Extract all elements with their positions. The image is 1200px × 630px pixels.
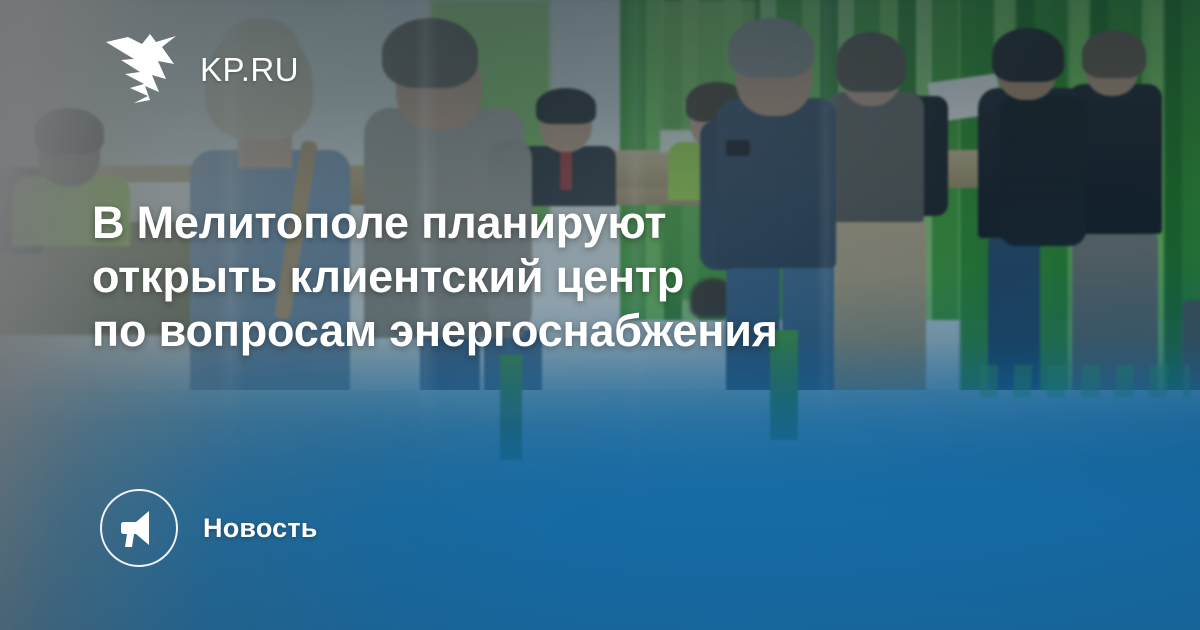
brand-logo[interactable]: KP.RU [104, 34, 299, 104]
headline-line-3: по вопросам энергоснабжения [92, 304, 1032, 358]
headline-line-1: В Мелитополе планируют [92, 196, 1032, 250]
megaphone-icon [118, 507, 160, 549]
news-social-card: KP.RU В Мелитополе планируют открыть кли… [0, 0, 1200, 630]
badge-label: Новость [203, 515, 318, 542]
headline-line-2: открыть клиентский центр [92, 250, 1032, 304]
badge-icon-circle [100, 489, 178, 567]
card-content: KP.RU В Мелитополе планируют открыть кли… [0, 0, 1200, 630]
swallow-bird-icon [104, 34, 178, 104]
headline: В Мелитополе планируют открыть клиентски… [92, 196, 1032, 358]
news-badge[interactable]: Новость [100, 489, 318, 567]
brand-name: KP.RU [200, 53, 299, 86]
